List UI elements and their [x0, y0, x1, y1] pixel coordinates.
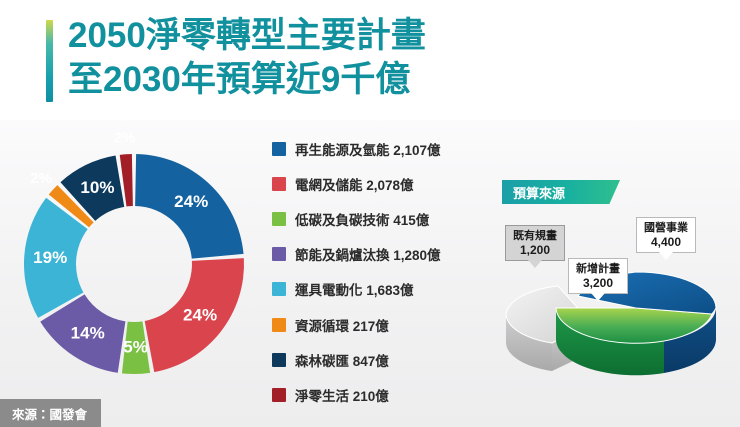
callout-state-owned-enterprise: 國營事業 4,400 [636, 217, 696, 253]
callout-new-plan-value: 3,200 [576, 276, 620, 290]
legend-item-label: 運具電動化 1,683億 [295, 279, 414, 299]
legend-item-label: 淨零生活 210億 [295, 385, 389, 405]
title-accent-bar [46, 20, 53, 102]
legend-swatch [272, 282, 286, 296]
donut-percent-label: 10% [80, 178, 114, 197]
legend-item[interactable]: 資源循環 217億 [272, 307, 482, 342]
callout-new-plan-name: 新增計畫 [576, 263, 620, 276]
callout-existing-plan-name: 既有規畫 [513, 230, 557, 243]
donut-percent-label: 5% [123, 337, 148, 356]
legend-swatch [272, 247, 286, 261]
legend-swatch [272, 177, 286, 191]
legend-item[interactable]: 低碳及負碳技術 415億 [272, 201, 482, 236]
callout-tail-icon [591, 293, 605, 301]
legend-item-label: 節能及鍋爐汰換 1,280億 [295, 244, 441, 264]
callout-soe-name: 國營事業 [644, 222, 688, 235]
header: 2050淨零轉型主要計畫 至2030年預算近9千億 [0, 0, 740, 120]
legend-item-label: 再生能源及氫能 2,107億 [295, 139, 441, 159]
legend-item[interactable]: 淨零生活 210億 [272, 377, 482, 412]
budget-allocation-donut-chart: 24%24%5%14%19%2%10%2% [8, 124, 260, 404]
legend-item[interactable]: 運具電動化 1,683億 [272, 272, 482, 307]
donut-percent-label: 2% [114, 129, 136, 146]
legend-item-label: 低碳及負碳技術 415億 [295, 209, 429, 229]
donut-percent-label: 24% [183, 305, 217, 324]
legend-item-label: 電網及儲能 2,078億 [295, 174, 414, 194]
callout-tail-icon [659, 252, 673, 260]
legend-swatch [272, 353, 286, 367]
legend-item[interactable]: 電網及儲能 2,078億 [272, 166, 482, 201]
budget-source-section: 預算來源 [488, 170, 740, 395]
donut-percent-label: 14% [71, 324, 105, 343]
callout-tail-icon [528, 260, 542, 268]
legend-item[interactable]: 森林碳匯 847億 [272, 342, 482, 377]
legend-swatch [272, 388, 286, 402]
source-label: 來源：國發會 [12, 404, 87, 423]
donut-percent-label: 2% [30, 170, 52, 187]
donut-percent-label: 19% [33, 248, 67, 267]
legend-swatch [272, 318, 286, 332]
donut-svg: 24%24%5%14%19%2%10%2% [8, 124, 260, 404]
source-attribution: 來源：國發會 [0, 399, 101, 427]
chart-legend: 再生能源及氫能 2,107億電網及儲能 2,078億低碳及負碳技術 415億節能… [272, 131, 482, 413]
title-line-1: 2050淨零轉型主要計畫 [68, 14, 688, 58]
legend-item-label: 森林碳匯 847億 [295, 350, 389, 370]
page-title: 2050淨零轉型主要計畫 至2030年預算近9千億 [68, 14, 688, 102]
legend-item[interactable]: 再生能源及氫能 2,107億 [272, 131, 482, 166]
legend-item-label: 資源循環 217億 [295, 315, 389, 335]
title-line-2: 至2030年預算近9千億 [68, 58, 688, 102]
callout-existing-plan-value: 1,200 [513, 243, 557, 257]
legend-item[interactable]: 節能及鍋爐汰換 1,280億 [272, 237, 482, 272]
legend-swatch [272, 212, 286, 226]
callout-new-plan: 新增計畫 3,200 [568, 258, 628, 294]
donut-percent-label: 24% [174, 192, 208, 211]
legend-swatch [272, 142, 286, 156]
callout-soe-value: 4,400 [644, 235, 688, 249]
callout-existing-plan: 既有規畫 1,200 [505, 225, 565, 261]
